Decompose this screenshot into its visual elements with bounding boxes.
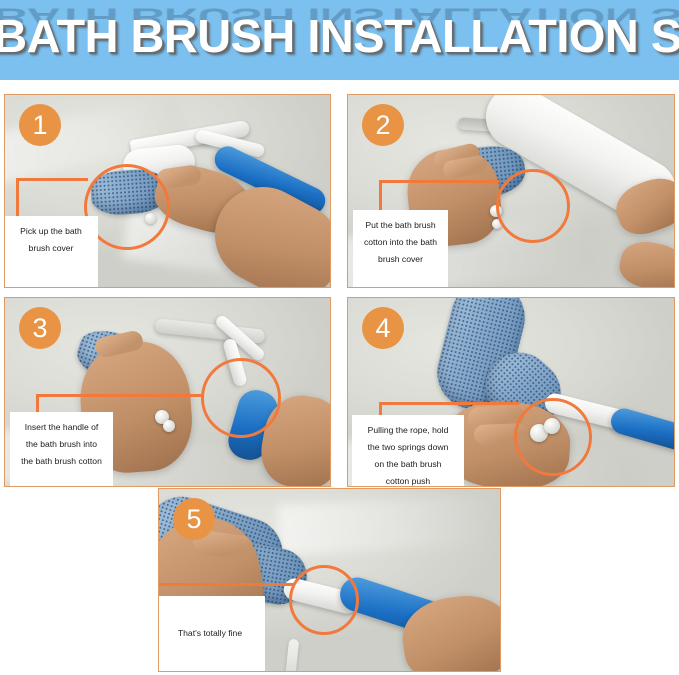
leader-line-horizontal-1	[16, 178, 88, 181]
step-caption-4: Pulling the rope, hold the two springs d…	[352, 415, 464, 487]
step-badge-3: 3	[19, 307, 61, 349]
annotation-circle-5	[289, 565, 359, 635]
step-badge-1: 1	[19, 104, 61, 146]
annotation-circle-2	[496, 169, 570, 243]
leader-line-horizontal-5	[158, 583, 294, 586]
spring-toggle	[163, 420, 175, 432]
step-badge-5: 5	[173, 498, 215, 540]
step-panel-4: 4 Pulling the rope, hold the two springs…	[347, 297, 675, 487]
step-panel-1: 1 Pick up the bath brush cover	[4, 94, 331, 288]
page-header: BATH BRUSH INSTALLATION STEPS BATH BRUSH…	[0, 0, 679, 80]
step-caption-5: That's totally fine	[158, 596, 265, 672]
leader-line-vertical-1	[16, 178, 19, 218]
leader-line-vertical-2	[379, 180, 382, 213]
step-caption-1: Pick up the bath brush cover	[4, 216, 98, 288]
annotation-circle-3	[201, 358, 281, 438]
page-title: BATH BRUSH INSTALLATION STEPS	[0, 2, 679, 70]
annotation-circle-4	[514, 398, 592, 476]
step-panel-3: 3 Insert the handle of the bath brush in…	[4, 297, 331, 487]
step-badge-4: 4	[362, 307, 404, 349]
leader-line-horizontal-3	[36, 394, 204, 397]
leader-line-horizontal-4	[379, 402, 519, 405]
step-panel-2: 2 Put the bath brush cotton into the bat…	[347, 94, 675, 288]
step-caption-2: Put the bath brush cotton into the bath …	[353, 210, 448, 288]
step-caption-3: Insert the handle of the bath brush into…	[10, 412, 113, 486]
step-badge-2: 2	[362, 104, 404, 146]
leader-line-horizontal-2	[379, 180, 499, 183]
step-panel-5: 5 That's totally fine	[158, 488, 501, 672]
